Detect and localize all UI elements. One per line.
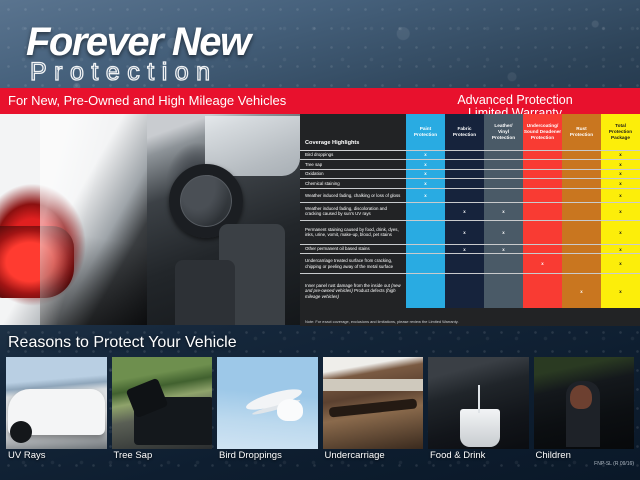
column-header-undercoating-l1: Undercoating/	[527, 123, 559, 128]
coverage-table: Coverage Highlights Paint Protection Fab…	[300, 114, 640, 326]
column-header-undercoating: Undercoating/ Sound Deadener Protection	[523, 114, 562, 150]
coverage-cell-empty	[523, 160, 562, 170]
table-row: Chemical stainingxx	[300, 179, 640, 189]
table-row: Bird droppingsxx	[300, 150, 640, 160]
table-row: Other permanent oil based stainsxxx	[300, 244, 640, 254]
column-header-rust-l2: Protection	[570, 132, 593, 137]
coverage-mark-yes: x	[406, 150, 445, 160]
coverage-mark-yes: x	[601, 254, 640, 274]
reason-caption: Tree Sap	[112, 450, 213, 466]
coverage-highlights-header: Coverage Highlights	[300, 114, 406, 150]
coverage-mark-yes: x	[601, 179, 640, 189]
reason-photo-tree-sap	[112, 357, 213, 449]
coverage-cell-empty	[562, 188, 601, 202]
coverage-mark-yes: x	[601, 160, 640, 170]
reasons-section-title: Reasons to Protect Your Vehicle	[8, 334, 237, 352]
coverage-table-grid: Coverage Highlights Paint Protection Fab…	[300, 114, 640, 308]
coverage-cell-empty	[484, 160, 523, 170]
coverage-cell-empty	[445, 160, 484, 170]
column-header-total-l2: Protection	[609, 129, 632, 134]
coverage-cell-empty	[445, 169, 484, 179]
coverage-table-header-row: Coverage Highlights Paint Protection Fab…	[300, 114, 640, 150]
coverage-mark-yes: x	[406, 169, 445, 179]
reason-photo-food-drink	[428, 357, 529, 449]
coverage-mark-yes: x	[601, 150, 640, 160]
column-header-rust-l1: Rust	[576, 126, 586, 131]
table-row: Tree sapxx	[300, 160, 640, 170]
row-label: Chemical staining	[300, 179, 406, 189]
reason-caption: Food & Drink	[428, 450, 529, 466]
coverage-cell-empty	[562, 220, 601, 244]
coverage-mark-yes: x	[445, 202, 484, 220]
row-label: Tree sap	[300, 160, 406, 170]
photo-seat-shape-2	[175, 260, 235, 325]
reasons-photo-strip	[0, 357, 640, 449]
photo-car-interior	[147, 114, 300, 325]
coverage-cell-empty	[406, 244, 445, 254]
hero-photo-strip	[0, 114, 300, 325]
coverage-mark-yes: x	[406, 188, 445, 202]
coverage-cell-empty	[562, 202, 601, 220]
coverage-cell-empty	[484, 254, 523, 274]
coverage-mark-yes: x	[406, 160, 445, 170]
coverage-cell-empty	[484, 169, 523, 179]
coverage-cell-empty	[562, 179, 601, 189]
column-header-paint-l1: Paint	[420, 126, 431, 131]
coverage-mark-yes: x	[484, 220, 523, 244]
coverage-cell-empty	[484, 179, 523, 189]
column-header-leather-l3: Protection	[492, 135, 515, 140]
brand-title-line2: Protection	[30, 60, 218, 85]
table-row: Permanent staining caused by food, drink…	[300, 220, 640, 244]
coverage-cell-empty	[562, 254, 601, 274]
coverage-cell-empty	[406, 220, 445, 244]
coverage-cell-empty	[484, 188, 523, 202]
column-header-undercoating-l3: Protection	[531, 135, 554, 140]
coverage-cell-empty	[523, 274, 562, 308]
row-label: Inner panel rust damage from the inside …	[300, 274, 406, 308]
coverage-cell-empty	[562, 150, 601, 160]
coverage-cell-empty	[406, 202, 445, 220]
coverage-cell-empty	[406, 254, 445, 274]
column-header-leather-l2: Vinyl	[498, 129, 509, 134]
coverage-mark-yes: x	[484, 202, 523, 220]
table-row: Weather induced fading, chalking or loss…	[300, 188, 640, 202]
column-header-paint: Paint Protection	[406, 114, 445, 150]
reason-caption: Bird Droppings	[217, 450, 318, 466]
coverage-mark-yes: x	[601, 220, 640, 244]
column-header-fabric-l2: Protection	[453, 132, 476, 137]
coverage-cell-empty	[523, 188, 562, 202]
coverage-cell-empty	[523, 169, 562, 179]
coverage-cell-empty	[562, 244, 601, 254]
coverage-mark-yes: x	[445, 244, 484, 254]
coverage-mark-yes: x	[484, 244, 523, 254]
coverage-cell-empty	[445, 188, 484, 202]
coverage-cell-empty	[523, 220, 562, 244]
reason-caption: Undercarriage	[323, 450, 424, 466]
table-row: Weather induced fading, discoloration an…	[300, 202, 640, 220]
reason-photo-uv-rays	[6, 357, 107, 449]
coverage-cell-empty	[523, 202, 562, 220]
coverage-cell-empty	[445, 150, 484, 160]
tagline-text: For New, Pre-Owned and High Mileage Vehi…	[8, 93, 286, 108]
coverage-cell-empty	[523, 179, 562, 189]
coverage-cell-empty	[484, 274, 523, 308]
column-header-leather: Leather/ Vinyl Protection	[484, 114, 523, 150]
coverage-mark-yes: x	[601, 274, 640, 308]
table-row: Oxidationxx	[300, 169, 640, 179]
row-label: Bird droppings	[300, 150, 406, 160]
coverage-mark-yes: x	[601, 169, 640, 179]
table-footnote: Note: For exact coverage, exclusions and…	[300, 317, 640, 326]
column-header-undercoating-l2: Sound Deadener	[524, 129, 561, 134]
reasons-caption-row: UV RaysTree SapBird DroppingsUndercarria…	[0, 450, 640, 466]
form-code: FNP-SL (R 09/16)	[594, 461, 634, 467]
page-header: Forever New Protection	[0, 0, 640, 92]
coverage-cell-empty	[523, 244, 562, 254]
column-header-total-l3: Package	[611, 135, 630, 140]
row-label: Permanent staining caused by food, drink…	[300, 220, 406, 244]
brochure-page: Forever New Protection For New, Pre-Owne…	[0, 0, 640, 480]
coverage-cell-empty	[484, 150, 523, 160]
table-row: Inner panel rust damage from the inside …	[300, 274, 640, 308]
coverage-mark-yes: x	[601, 244, 640, 254]
brand-title-line1: Forever New	[26, 22, 250, 62]
coverage-table-body: Bird droppingsxxTree sapxxOxidationxxChe…	[300, 150, 640, 308]
coverage-cell-empty	[406, 274, 445, 308]
coverage-mark-yes: x	[601, 202, 640, 220]
photo-car-taillight	[0, 114, 147, 325]
row-label: Weather induced fading, chalking or loss…	[300, 188, 406, 202]
coverage-mark-yes: x	[445, 220, 484, 244]
table-row: Undercarriage treated surface from crack…	[300, 254, 640, 274]
coverage-mark-yes: x	[562, 274, 601, 308]
coverage-mark-yes: x	[523, 254, 562, 274]
column-header-paint-l2: Protection	[414, 132, 437, 137]
coverage-cell-empty	[562, 160, 601, 170]
coverage-cell-empty	[562, 169, 601, 179]
coverage-cell-empty	[445, 179, 484, 189]
coverage-mark-yes: x	[601, 188, 640, 202]
row-label: Oxidation	[300, 169, 406, 179]
row-label: Undercarriage treated surface from crack…	[300, 254, 406, 274]
column-header-rust: Rust Protection	[562, 114, 601, 150]
coverage-cell-empty	[445, 254, 484, 274]
coverage-cell-empty	[445, 274, 484, 308]
column-header-total: Total Protection Package	[601, 114, 640, 150]
coverage-mark-yes: x	[406, 179, 445, 189]
reason-photo-bird-droppings	[217, 357, 318, 449]
column-header-fabric-l1: Fabric	[457, 126, 471, 131]
reason-caption: UV Rays	[6, 450, 107, 466]
row-label: Other permanent oil based stains	[300, 244, 406, 254]
warranty-title-line1: Advanced Protection	[390, 93, 640, 107]
reason-photo-children	[534, 357, 635, 449]
reason-photo-undercarriage	[323, 357, 424, 449]
row-label: Weather induced fading, discoloration an…	[300, 202, 406, 220]
column-header-fabric: Fabric Protection	[445, 114, 484, 150]
column-header-leather-l1: Leather/	[494, 123, 512, 128]
coverage-cell-empty	[523, 150, 562, 160]
column-header-total-l1: Total	[615, 123, 626, 128]
